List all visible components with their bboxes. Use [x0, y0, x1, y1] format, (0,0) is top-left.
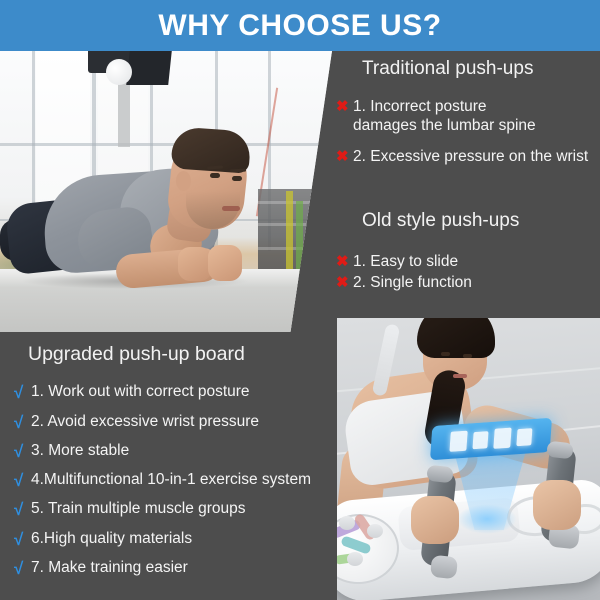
hologram-glow — [457, 504, 517, 534]
list-item-label: 1. Incorrect posture damages the lumbar … — [353, 98, 600, 136]
upgraded-list: √ 1. Work out with correct posture √ 2. … — [14, 383, 334, 579]
board-insert-hole — [339, 516, 355, 530]
gym-plank-photo — [0, 51, 332, 332]
hologram-digit — [493, 428, 511, 449]
list-item: √ 6.High quality materials — [14, 530, 334, 551]
mouth — [222, 206, 240, 211]
hologram-digit — [516, 428, 532, 446]
check-icon: √ — [14, 383, 31, 404]
list-item: √ 3. More stable — [14, 442, 334, 463]
check-icon: √ — [14, 442, 31, 463]
handle-cap — [426, 465, 454, 484]
check-icon: √ — [14, 413, 31, 434]
ear — [176, 171, 191, 191]
section-title-upgraded: Upgraded push-up board — [28, 343, 334, 366]
old-style-list: ✖ 1. Easy to slide ✖ 2. Single function — [336, 253, 600, 293]
list-item: √ 2. Avoid excessive wrist pressure — [14, 413, 334, 434]
list-item-label: 3. More stable — [31, 442, 334, 461]
eye — [463, 354, 472, 358]
page-title: WHY CHOOSE US? — [158, 11, 441, 41]
board-insert-hole — [367, 524, 383, 538]
check-icon: √ — [14, 530, 31, 551]
list-item-label: 2. Excessive pressure on the wrist — [353, 148, 600, 167]
list-item-label: 6.High quality materials — [31, 530, 334, 549]
hologram-digit — [449, 431, 467, 452]
section-old-style-pushups: Old style push-ups ✖ 1. Easy to slide ✖ … — [336, 210, 600, 295]
list-item: ✖ 2. Single function — [336, 274, 600, 293]
man-in-plank — [0, 51, 332, 332]
list-item-label: 2. Avoid excessive wrist pressure — [31, 413, 334, 432]
mouth — [453, 374, 467, 378]
check-icon: √ — [14, 471, 31, 492]
eye — [210, 173, 220, 178]
list-item: ✖ 1. Incorrect posture damages the lumba… — [336, 98, 600, 136]
list-item: √ 7. Make training easier — [14, 559, 334, 580]
section-title-old-style: Old style push-ups — [362, 210, 600, 233]
check-icon: √ — [14, 559, 31, 580]
handle-base — [430, 555, 458, 580]
list-item-label: 2. Single function — [353, 274, 600, 293]
list-item-label: 7. Make training easier — [31, 559, 334, 578]
eye — [441, 352, 450, 356]
cross-icon: ✖ — [336, 274, 353, 292]
list-item-label: 5. Train multiple muscle groups — [31, 500, 334, 519]
list-item: √ 5. Train multiple muscle groups — [14, 500, 334, 521]
list-item-label: 1. Easy to slide — [353, 253, 600, 272]
fist — [178, 247, 212, 281]
handle-cap — [546, 441, 574, 460]
board-insert-hole — [347, 552, 363, 566]
woman-right-hand — [533, 480, 581, 530]
gym-scene — [0, 51, 332, 332]
list-item: ✖ 1. Easy to slide — [336, 253, 600, 272]
product-demo-photo — [337, 318, 600, 600]
section-traditional-pushups: Traditional push-ups ✖ 1. Incorrect post… — [336, 58, 600, 179]
woman-hair — [417, 318, 495, 358]
hologram-digit — [472, 431, 488, 449]
infographic-poster: WHY CHOOSE US? — [0, 0, 600, 600]
list-item-label: 1. Work out with correct posture — [31, 383, 334, 402]
section-upgraded-board: Upgraded push-up board √ 1. Work out wit… — [14, 343, 334, 588]
woman-left-hand — [411, 496, 459, 544]
list-item-label: 4.Multifunctional 10-in-1 exercise syste… — [31, 471, 334, 490]
list-item: √ 4.Multifunctional 10-in-1 exercise sys… — [14, 471, 334, 492]
list-item: √ 1. Work out with correct posture — [14, 383, 334, 404]
cross-icon: ✖ — [336, 253, 353, 271]
list-item: ✖ 2. Excessive pressure on the wrist — [336, 148, 600, 167]
header-banner: WHY CHOOSE US? — [0, 0, 600, 51]
fist — [208, 245, 242, 281]
cross-icon: ✖ — [336, 148, 353, 166]
section-title-traditional: Traditional push-ups — [362, 58, 600, 81]
traditional-list: ✖ 1. Incorrect posture damages the lumba… — [336, 98, 600, 167]
eye — [232, 176, 242, 181]
cross-icon: ✖ — [336, 98, 353, 116]
check-icon: √ — [14, 500, 31, 521]
